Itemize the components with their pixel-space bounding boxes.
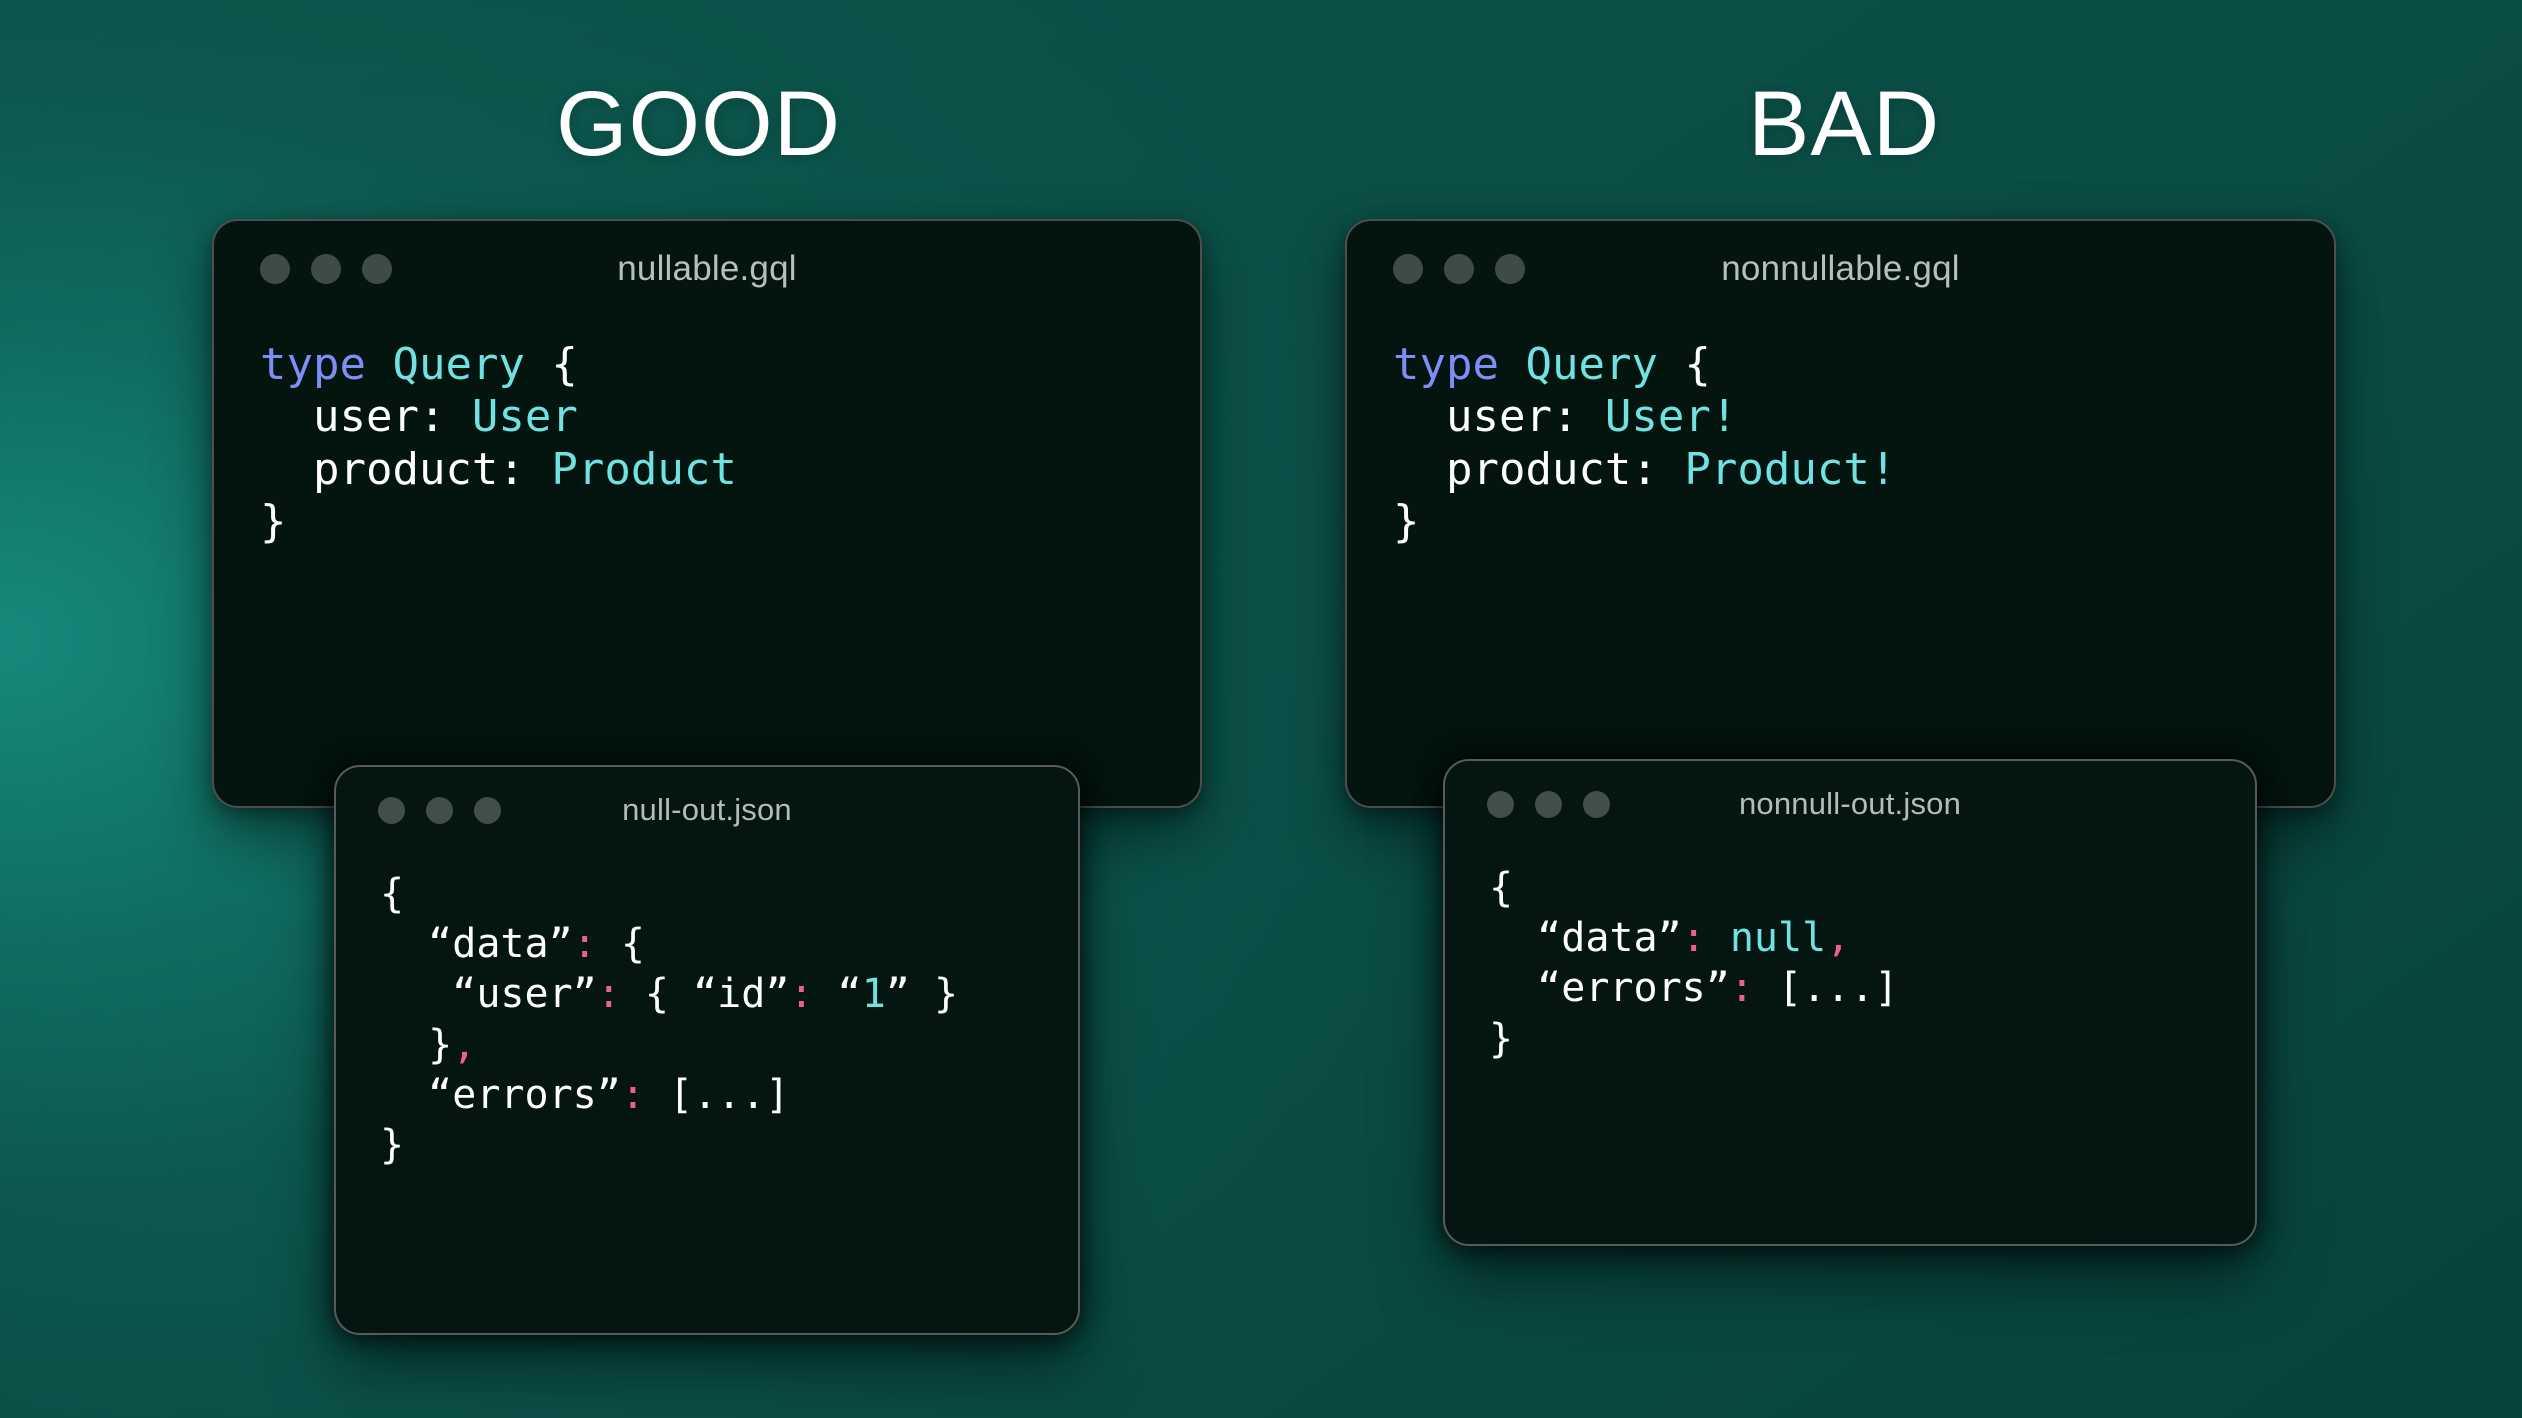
code-token-plain: { [525,339,578,390]
traffic-dot-maximize-icon[interactable] [1495,254,1525,284]
window-titlebar: nonnull-out.json [1445,761,2255,847]
code-token-plain: } [380,1022,452,1068]
traffic-dot-minimize-icon[interactable] [311,254,341,284]
code-line: } [1393,496,2334,548]
code-token-keyword: type [1393,339,1499,390]
traffic-light-dots [378,797,501,824]
code-token-value: null [1730,915,1826,961]
code-token-plain: “data” [380,921,573,967]
code-block: { “data”: { “user”: { “id”: “1” } }, “er… [336,853,1078,1170]
code-window-nonnullable-gql[interactable]: nonnullable.gql type Query { user: User!… [1345,219,2336,808]
traffic-dot-minimize-icon[interactable] [1535,791,1562,818]
code-line: } [380,1120,1078,1170]
traffic-dot-maximize-icon[interactable] [362,254,392,284]
traffic-dot-close-icon[interactable] [378,797,405,824]
code-token-plain: } [1489,1016,1513,1062]
code-token-value: 1 [862,971,886,1017]
code-line: { [1489,863,2255,913]
traffic-dot-maximize-icon[interactable] [1583,791,1610,818]
code-line: user: User [260,391,1200,443]
code-token-plain: “ [814,971,862,1017]
code-line: }, [380,1020,1078,1070]
window-titlebar: null-out.json [336,767,1078,853]
traffic-dot-minimize-icon[interactable] [426,797,453,824]
traffic-dot-minimize-icon[interactable] [1444,254,1474,284]
code-token-colon: , [1826,915,1850,961]
traffic-dot-close-icon[interactable] [1393,254,1423,284]
code-token-plain [366,339,393,390]
code-token-plain: “data” [1489,915,1682,961]
code-token-plain [1499,339,1526,390]
code-token-colon: , [452,1022,476,1068]
code-block: type Query { user: User product: Product… [214,317,1200,548]
code-token-plain: [...] [645,1072,790,1118]
traffic-dot-close-icon[interactable] [1487,791,1514,818]
code-token-plain: user: [1393,391,1605,442]
code-token-type: Product [551,444,736,495]
code-line: } [260,496,1200,548]
code-window-nonnull-out-json[interactable]: nonnull-out.json { “data”: null, “errors… [1443,759,2257,1246]
code-token-colon: : [789,971,813,1017]
code-window-null-out-json[interactable]: null-out.json { “data”: { “user”: { “id”… [334,765,1080,1335]
code-line: “data”: null, [1489,913,2255,963]
code-token-colon: : [621,1072,645,1118]
code-token-type: Query [1525,339,1657,390]
code-line: type Query { [260,339,1200,391]
code-line: “errors”: [...] [1489,963,2255,1013]
code-token-plain [1706,915,1730,961]
traffic-light-dots [1393,254,1525,284]
code-token-type: User [472,391,578,442]
heading-bad: BAD [1748,78,1940,170]
code-token-plain: [...] [1754,965,1899,1011]
code-token-colon: : [1730,965,1754,1011]
code-token-plain: { [597,921,645,967]
code-line: “user”: { “id”: “1” } [380,969,1078,1019]
code-token-plain: product: [260,444,551,495]
slide-canvas: GOOD BAD nullable.gql type Query { user:… [0,0,2522,1418]
window-titlebar: nullable.gql [214,221,1200,317]
code-token-plain: } [1393,496,1420,547]
code-token-colon: : [1682,915,1706,961]
code-line: “errors”: [...] [380,1070,1078,1120]
code-token-plain: user: [260,391,472,442]
code-line: “data”: { [380,919,1078,969]
code-token-keyword: type [260,339,366,390]
traffic-light-dots [1487,791,1610,818]
code-line: product: Product! [1393,444,2334,496]
code-block: type Query { user: User! product: Produc… [1347,317,2334,548]
code-token-plain: { [380,871,404,917]
code-token-plain: “errors” [1489,965,1730,1011]
code-token-plain: “user” [380,971,597,1017]
code-token-plain: { “id” [621,971,790,1017]
traffic-dot-close-icon[interactable] [260,254,290,284]
code-window-nullable-gql[interactable]: nullable.gql type Query { user: User pro… [212,219,1202,808]
code-line: user: User! [1393,391,2334,443]
code-token-plain: product: [1393,444,1684,495]
heading-good: GOOD [556,78,841,170]
code-token-plain: { [1658,339,1711,390]
code-token-type: User! [1605,391,1737,442]
code-line: { [380,869,1078,919]
code-line: product: Product [260,444,1200,496]
traffic-dot-maximize-icon[interactable] [474,797,501,824]
code-token-colon: : [597,971,621,1017]
code-token-plain: ” } [886,971,958,1017]
code-token-colon: : [573,921,597,967]
code-line: type Query { [1393,339,2334,391]
code-token-plain: } [380,1122,404,1168]
code-token-type: Product! [1684,444,1896,495]
code-token-plain: “errors” [380,1072,621,1118]
code-token-type: Query [392,339,524,390]
code-token-plain: } [260,496,287,547]
code-token-plain: { [1489,865,1513,911]
window-titlebar: nonnullable.gql [1347,221,2334,317]
traffic-light-dots [260,254,392,284]
code-line: } [1489,1014,2255,1064]
code-block: { “data”: null, “errors”: [...]} [1445,847,2255,1064]
